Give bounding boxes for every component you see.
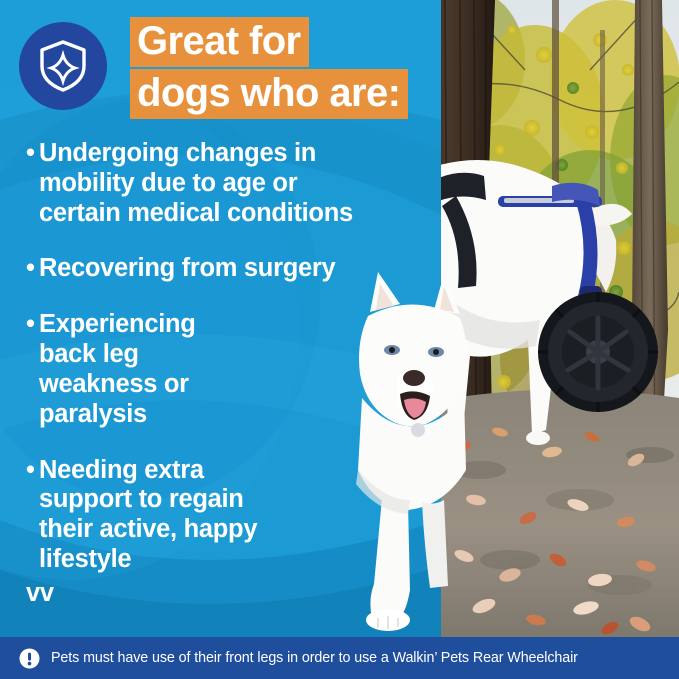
dog-in-rear-wheelchair-photo <box>440 0 679 637</box>
shield-badge <box>19 22 107 110</box>
title-line-1: Great for <box>130 17 309 67</box>
title-line-2: dogs who are: <box>130 69 408 119</box>
list-item: Experiencing back leg weakness or paraly… <box>26 310 289 429</box>
list-item: Needing extra support to regain their ac… <box>26 456 289 575</box>
disclaimer-text: Pets must have use of their front legs i… <box>51 650 578 666</box>
list-item: Recovering from surgery <box>26 254 426 284</box>
stray-text: vv <box>26 579 426 609</box>
shield-star-icon <box>37 39 89 93</box>
page-title: Great for dogs who are: <box>130 17 460 119</box>
photo-artwork <box>440 0 679 637</box>
exclamation-circle-icon <box>19 648 40 669</box>
product-feature-poster: Great for dogs who are: Undergoing chang… <box>0 0 679 679</box>
benefits-list: Undergoing changes in mobility due to ag… <box>26 139 426 609</box>
disclaimer-banner: Pets must have use of their front legs i… <box>0 637 679 679</box>
list-item: Undergoing changes in mobility due to ag… <box>26 139 426 228</box>
